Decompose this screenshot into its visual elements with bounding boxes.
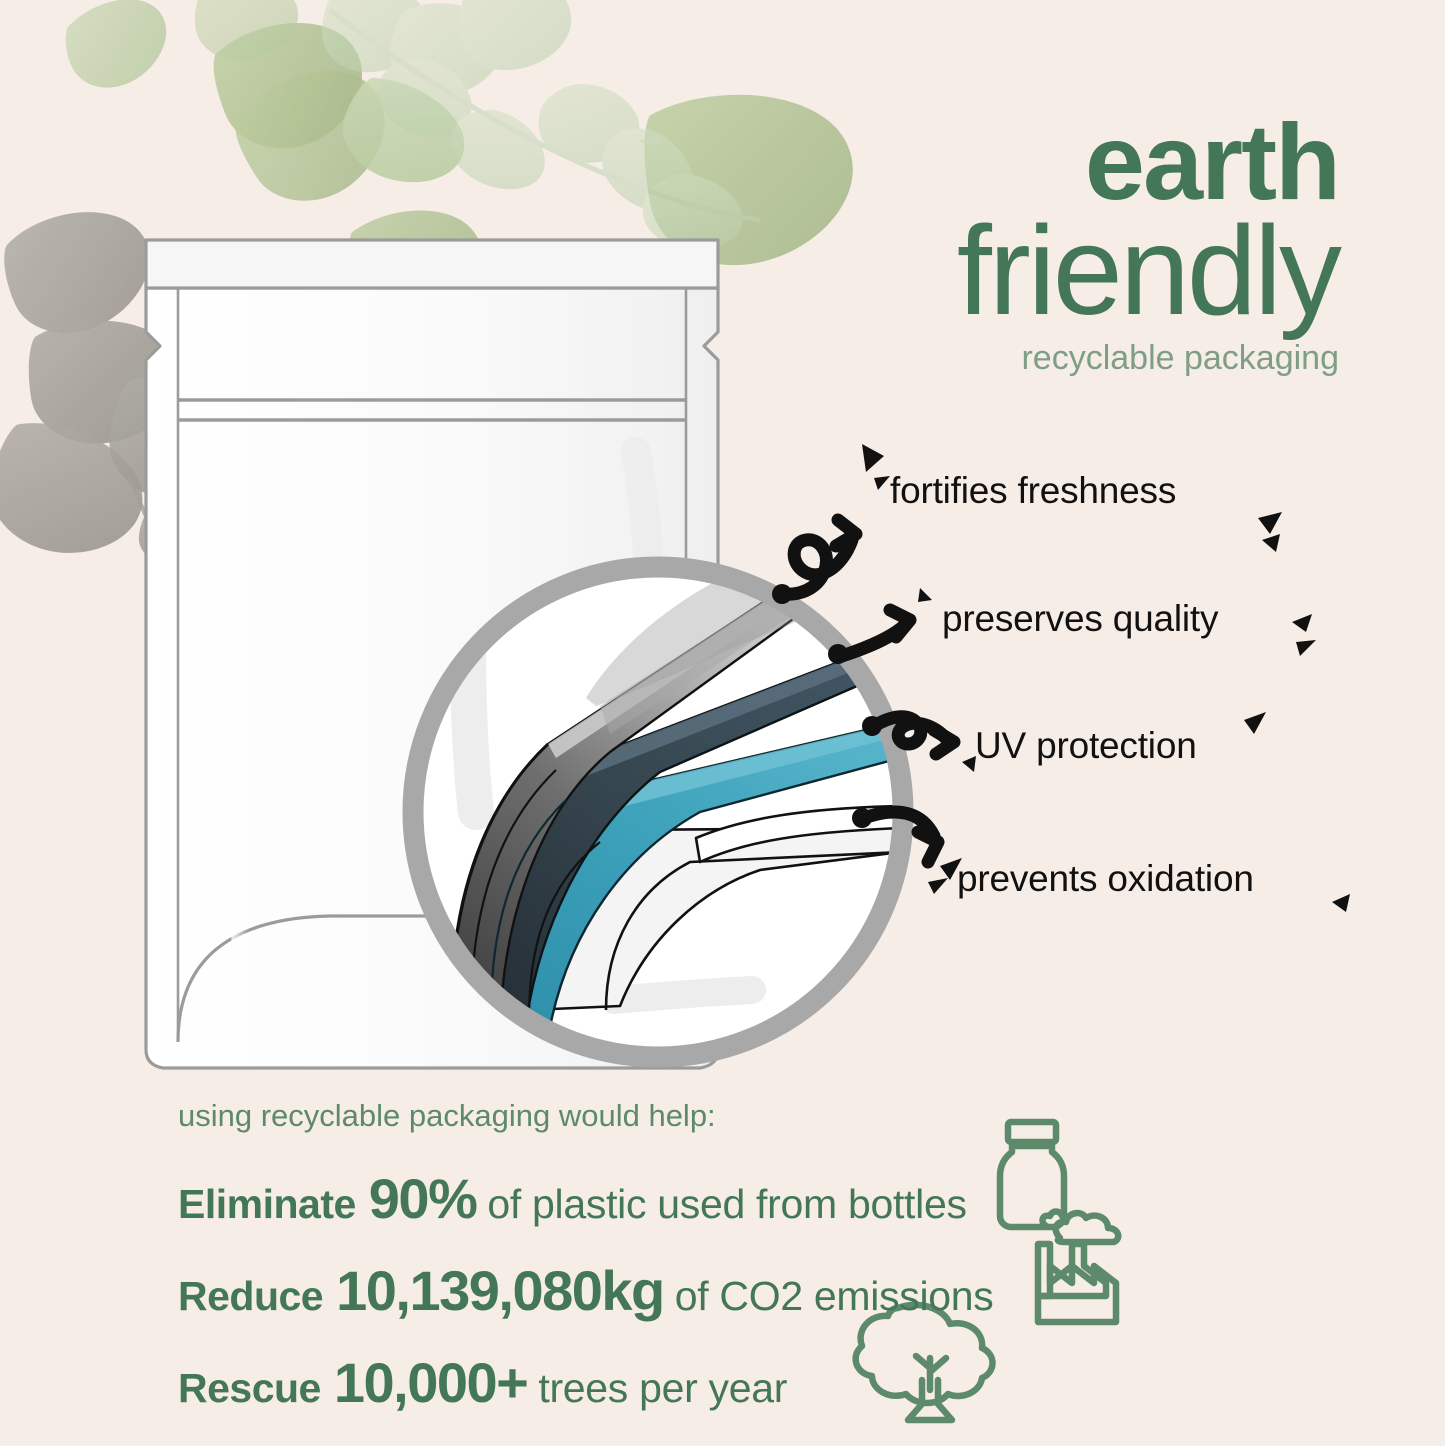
stat-rest: of plastic used from bottles	[487, 1181, 966, 1228]
stat-rest: of CO2 emissions	[675, 1273, 994, 1320]
stat-rest: trees per year	[538, 1365, 787, 1412]
stat-value: 10,139,080kg	[336, 1258, 664, 1323]
stat-verb: Reduce	[178, 1273, 323, 1320]
stat-row: Rescue 10,000+ trees per year	[178, 1350, 1278, 1415]
stat-value: 90%	[369, 1166, 477, 1231]
infographic-poster: earth friendly recyclable packaging fort…	[0, 0, 1445, 1446]
stats-section: using recyclable packaging would help: E…	[178, 1098, 1278, 1415]
stat-row: Eliminate 90% of plastic used from bottl…	[178, 1166, 1278, 1231]
stat-value: 10,000+	[334, 1350, 527, 1415]
stat-verb: Eliminate	[178, 1181, 356, 1228]
stat-row: Reduce 10,139,080kg of CO2 emissions	[178, 1258, 1278, 1323]
stats-intro: using recyclable packaging would help:	[178, 1098, 1278, 1134]
stat-verb: Rescue	[178, 1365, 321, 1412]
